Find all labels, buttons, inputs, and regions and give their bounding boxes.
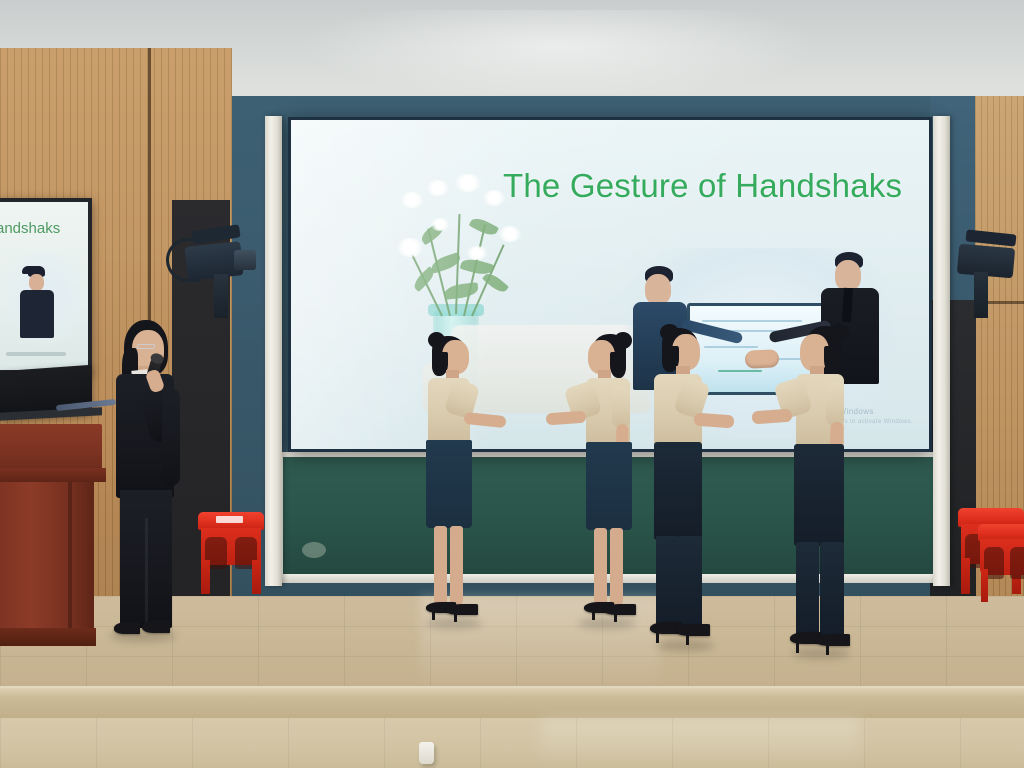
presenter-shoe-right	[142, 620, 170, 633]
student-pair1-left	[420, 330, 490, 630]
lower-floor	[0, 718, 1024, 768]
video-camera-left	[160, 218, 256, 318]
stage-edge	[0, 686, 1024, 720]
video-camera-right	[952, 218, 1024, 318]
student-pair2-right	[782, 320, 860, 660]
secondary-monitor-title: andshaks	[0, 220, 60, 237]
slide-handshake-hands	[745, 349, 780, 369]
presenter-glasses	[137, 344, 155, 349]
red-stool-left[interactable]	[198, 512, 264, 594]
lower-floor-reflection	[540, 718, 860, 768]
pillar-left	[265, 116, 282, 586]
slide-title: The Gesture of Handshaks	[503, 167, 902, 205]
presenter-shoe-left	[114, 622, 140, 634]
red-stool-right-front[interactable]	[978, 524, 1024, 602]
student-skirt	[426, 440, 472, 528]
podium[interactable]	[0, 424, 102, 646]
secondary-monitor-photo	[2, 254, 80, 346]
presenter-arm-left	[162, 388, 180, 486]
student-pair2-left	[648, 322, 724, 652]
student-trousers	[654, 442, 702, 540]
pillar-right	[933, 116, 950, 586]
student-pair1-right	[572, 328, 644, 628]
secondary-monitor-screen: andshaks	[0, 202, 88, 370]
classroom-scene: Activate Windows Go to Settings to activ…	[0, 0, 1024, 768]
secondary-monitor[interactable]: andshaks	[0, 198, 92, 374]
paper-cup	[419, 742, 434, 764]
presenter-teacher	[104, 318, 186, 648]
